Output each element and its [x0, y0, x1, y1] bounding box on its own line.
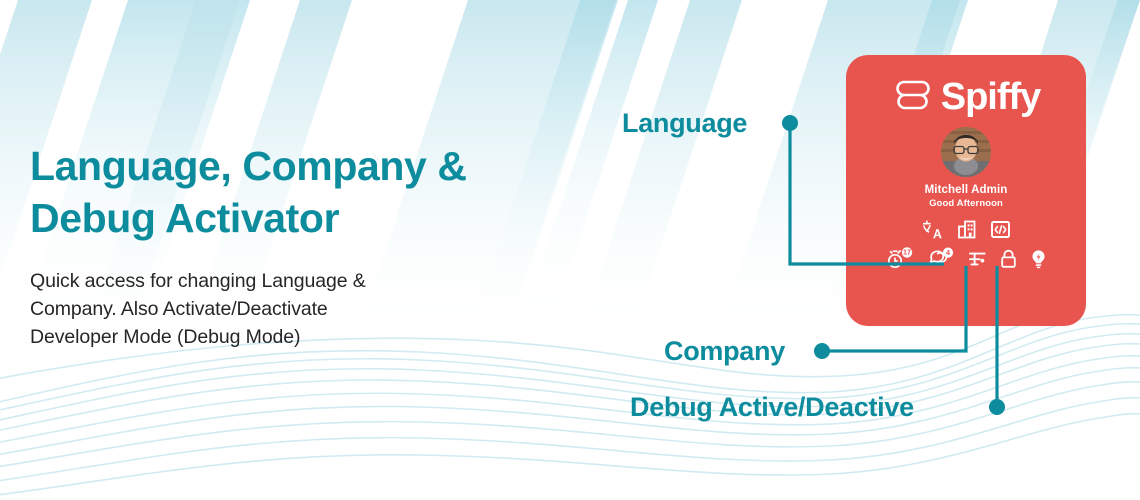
brand-name: Spiffy	[941, 78, 1041, 116]
banner-canvas: Language, Company & Debug Activator Quic…	[0, 0, 1140, 500]
brand-logo: Spiffy	[892, 77, 1041, 117]
lightbulb-icon[interactable]	[1030, 249, 1047, 269]
quick-action-icons	[922, 220, 1010, 239]
greeting-text: Good Afternoon	[929, 198, 1003, 209]
user-profile-card: Spiffy Mitchell Admin	[846, 55, 1086, 326]
activity-clock-badge-wrap[interactable]: 17	[886, 247, 915, 269]
avatar-photo	[941, 127, 991, 177]
messages-badge-count: 4	[946, 248, 950, 257]
connector-dot-company	[814, 343, 830, 359]
connector-dot-debug	[989, 399, 1005, 415]
translate-icon[interactable]	[922, 220, 943, 239]
activity-clock-icon[interactable]: 17	[886, 247, 915, 269]
callout-label-language: Language	[622, 108, 747, 139]
callout-label-company: Company	[664, 336, 785, 367]
lock-icon[interactable]	[1000, 249, 1017, 269]
messages-icon[interactable]: 4	[928, 247, 955, 269]
activity-badge-count: 17	[903, 248, 911, 257]
avatar	[941, 127, 991, 177]
user-name: Mitchell Admin	[925, 184, 1008, 196]
callout-label-debug: Debug Active/Deactive	[630, 392, 914, 423]
headline-line-1: Language, Company &	[30, 143, 467, 189]
headline-line-2: Debug Activator	[30, 195, 339, 241]
status-icons: 17 4	[886, 247, 1047, 269]
hero-description: Quick access for changing Language & Com…	[30, 267, 550, 352]
connector-dot-language	[782, 115, 798, 131]
description-line-2: Company. Also Activate/Deactivate	[30, 298, 328, 320]
settings-icon[interactable]	[968, 249, 987, 269]
company-icon[interactable]	[958, 220, 976, 239]
debug-icon[interactable]	[991, 220, 1010, 239]
hero-text-block: Language, Company & Debug Activator Quic…	[30, 140, 550, 352]
spiffy-logo-icon	[892, 77, 934, 117]
description-line-1: Quick access for changing Language &	[30, 270, 366, 292]
description-line-3: Developer Mode (Debug Mode)	[30, 326, 300, 348]
page-title: Language, Company & Debug Activator	[30, 140, 550, 245]
messages-badge-wrap[interactable]: 4	[928, 247, 955, 269]
